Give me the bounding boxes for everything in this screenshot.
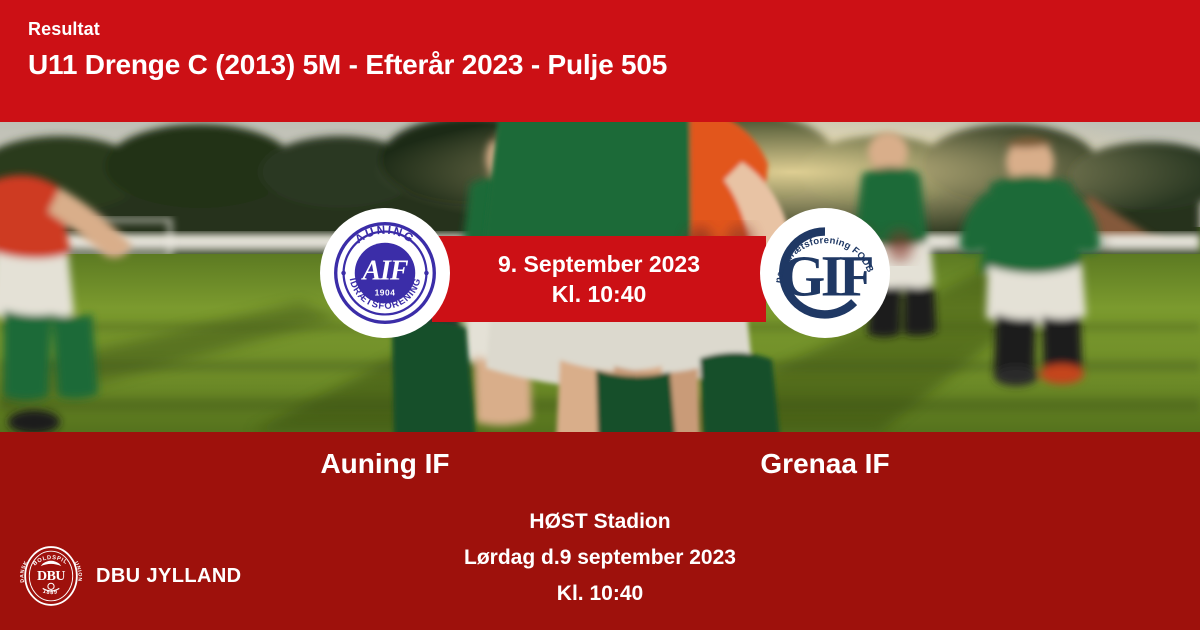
home-team-crest: AUNING IDRÆTSFORENING AIF 1904 <box>320 208 450 338</box>
away-team-name: Grenaa IF <box>605 448 1045 480</box>
match-time: Kl. 10:40 <box>552 279 647 309</box>
dbu-logo-icon: BOLDSPIL DANSK UNION DBU 1889 <box>20 545 82 607</box>
venue-stadium: HØST Stadion <box>0 504 1200 540</box>
poster-footer: Auning IF Grenaa IF HØST Stadion Lørdag … <box>0 432 1200 630</box>
home-team-name: Auning IF <box>165 448 605 480</box>
dbu-jylland-branding: BOLDSPIL DANSK UNION DBU 1889 DBU JYLLAN… <box>20 545 242 607</box>
team-names-row: Auning IF Grenaa IF <box>0 448 1200 480</box>
header-kicker: Resultat <box>28 20 1200 40</box>
poster-header: Resultat U11 Drenge C (2013) 5M - Efterå… <box>0 0 1200 122</box>
svg-text:UNION: UNION <box>73 561 82 582</box>
match-result-poster: Resultat U11 Drenge C (2013) 5M - Efterå… <box>0 0 1200 630</box>
svg-text:DANSK: DANSK <box>20 560 30 583</box>
match-date: 9. September 2023 <box>498 249 700 279</box>
svg-text:AIF: AIF <box>361 256 409 287</box>
match-date-banner: 9. September 2023 Kl. 10:40 <box>432 236 766 322</box>
page-title: U11 Drenge C (2013) 5M - Efterår 2023 - … <box>28 49 1200 81</box>
svg-text:DBU: DBU <box>37 569 65 584</box>
grenaa-if-crest-icon: Grenaa Idrætsforening FODBOLD GIF <box>769 217 881 329</box>
svg-text:1904: 1904 <box>375 287 396 297</box>
svg-text:GIF: GIF <box>780 243 872 308</box>
auning-if-crest-icon: AUNING IDRÆTSFORENING AIF 1904 <box>329 217 441 329</box>
dbu-jylland-label: DBU JYLLAND <box>96 565 242 588</box>
away-team-crest: Grenaa Idrætsforening FODBOLD GIF <box>760 208 890 338</box>
